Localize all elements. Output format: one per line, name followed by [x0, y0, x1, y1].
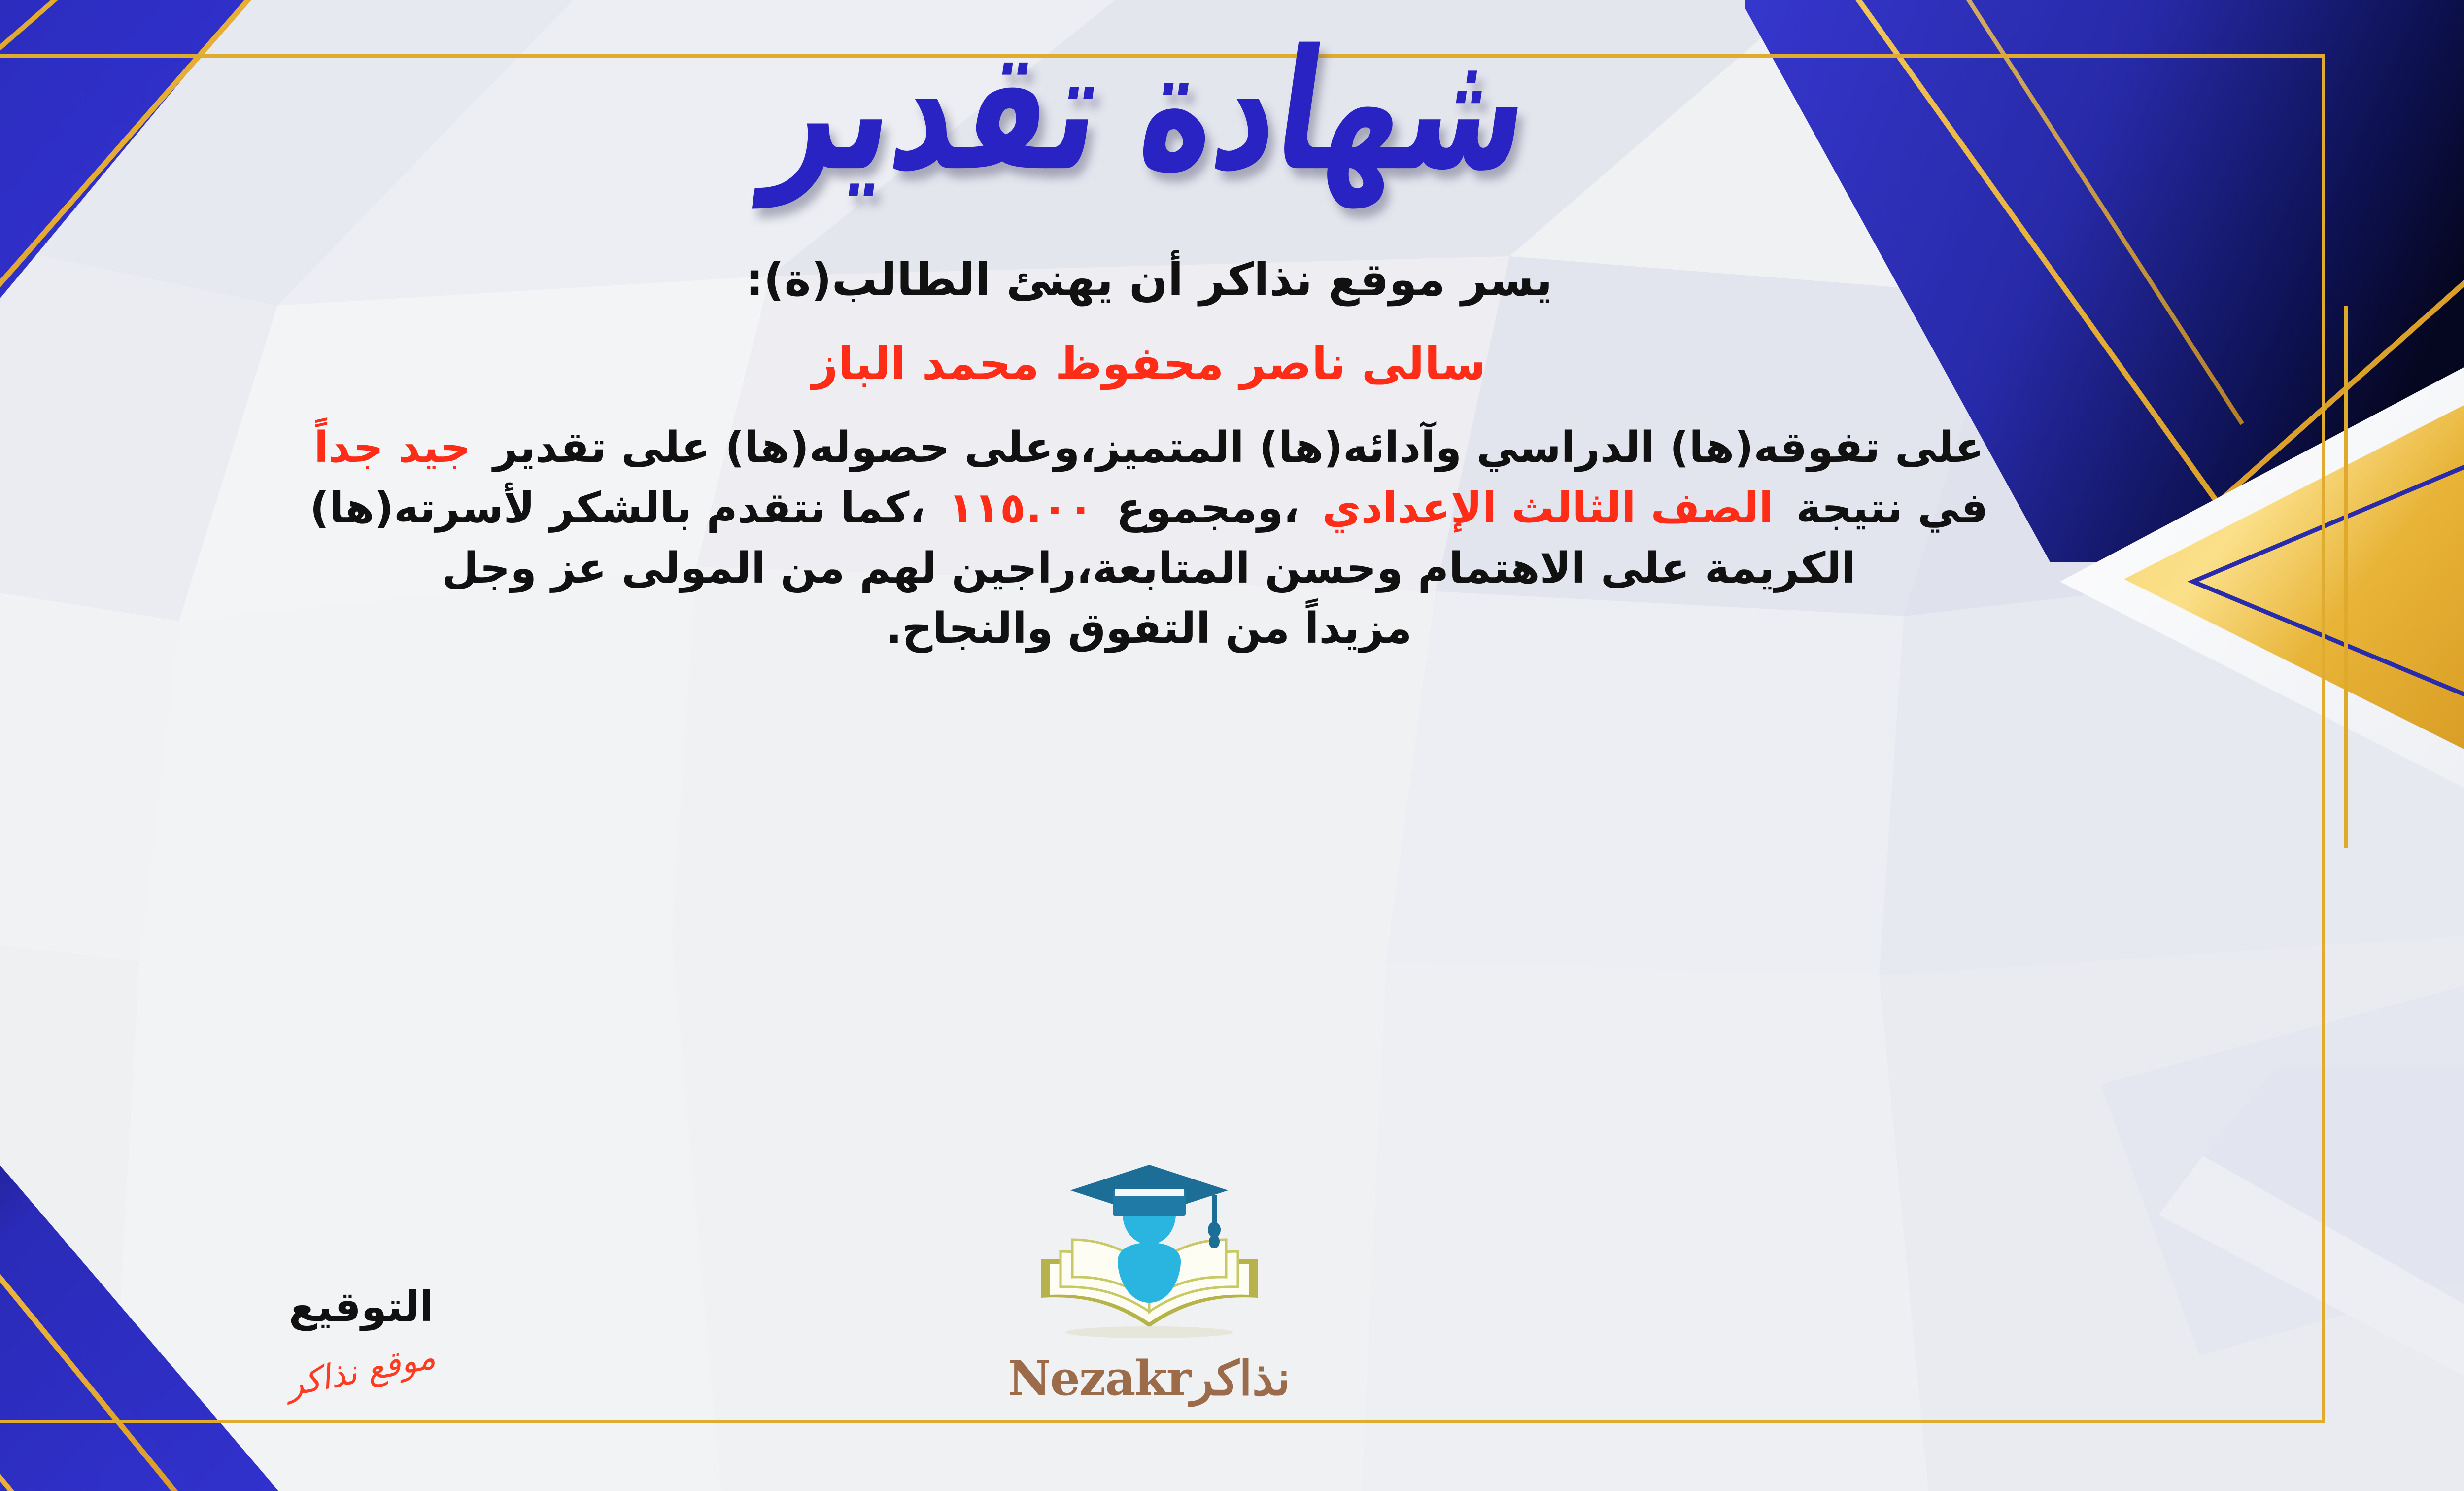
citation-line-2-suffix: ،كما نتقدم بالشكر لأسرته(ها) — [310, 484, 925, 533]
signature-handwritten: موقع نذاكر — [284, 1339, 439, 1404]
logo-graphic — [1021, 1155, 1277, 1352]
site-logo: نذاكرNezakr — [962, 1155, 1336, 1402]
certificate-title: شهادة تقدير — [759, 28, 1539, 194]
logo-wordmark-latin: Nezakr — [1008, 1351, 1191, 1406]
certificate-title-wrap: شهادة تقدير — [0, 30, 2464, 192]
certificate-footer: التوقيع موقع نذاكر — [0, 1111, 2464, 1417]
logo-wordmark: نذاكرNezakr — [962, 1355, 1336, 1402]
citation-line-1: على تفوقه(ها) الدراسي وآدائه(ها) المتميز… — [0, 417, 2322, 478]
signature-block: التوقيع موقع نذاكر — [208, 1286, 514, 1390]
citation-line-2-middle: ،ومجموع — [1116, 484, 1300, 533]
greeting-line: يسر موقع نذاكر أن يهنئ الطالب(ة): — [746, 251, 1553, 308]
class-name: الصف الثالث الإعدادي — [1300, 484, 1796, 533]
grade-label: جيد جداً — [314, 423, 493, 472]
citation-line-3: الكريمة على الاهتمام وحسن المتابعة،راجين… — [0, 538, 2322, 598]
total-score: ١١٥.٠٠ — [925, 484, 1116, 533]
signature-label: التوقيع — [208, 1286, 514, 1327]
citation-line-2-prefix: في نتيجة — [1796, 484, 1988, 533]
logo-wordmark-arabic: نذاكر — [1191, 1351, 1290, 1406]
citation-line-2: في نتيجةالصف الثالث الإعدادي،ومجموع١١٥.٠… — [0, 478, 2322, 538]
certificate-canvas: شهادة تقدير يسر موقع نذاكر أن يهنئ الطال… — [0, 0, 2464, 1491]
citation-body: على تفوقه(ها) الدراسي وآدائه(ها) المتميز… — [0, 417, 2322, 658]
certificate-content: شهادة تقدير يسر موقع نذاكر أن يهنئ الطال… — [0, 0, 2464, 1491]
student-name: سالى ناصر محفوظ محمد الباز — [812, 337, 1486, 391]
citation-line-1-text: على تفوقه(ها) الدراسي وآدائه(ها) المتميز… — [493, 423, 1984, 472]
citation-line-4: مزيداً من التفوق والنجاح. — [0, 598, 2322, 659]
